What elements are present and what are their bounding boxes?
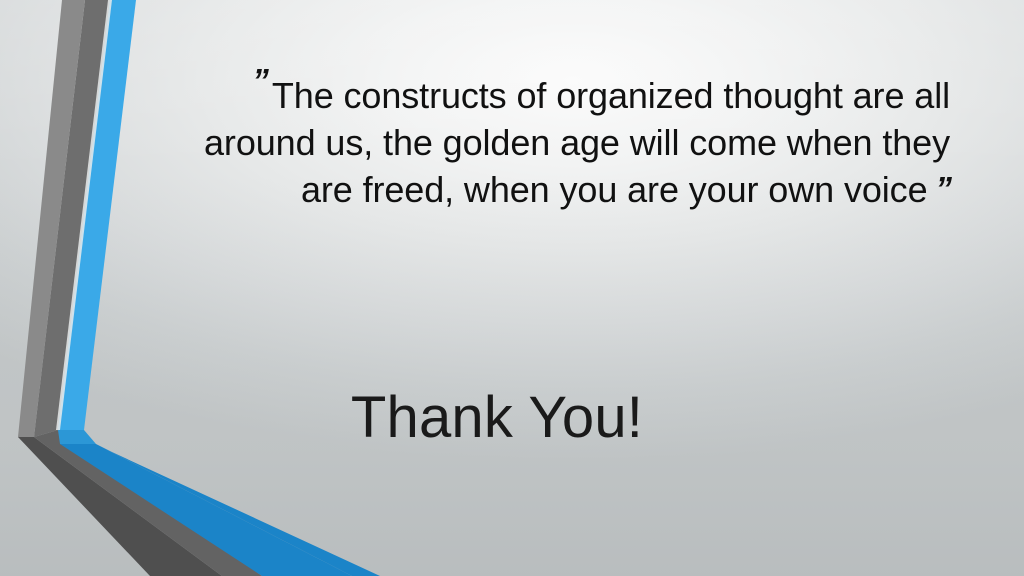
quote-body-text: The constructs of organized thought are … (204, 75, 950, 210)
close-quote-icon: ” (936, 170, 951, 207)
quote-text-block: ”The constructs of organized thought are… (150, 72, 950, 213)
closing-message-text: Thank You! (351, 385, 643, 451)
presentation-slide: ”The constructs of organized thought are… (0, 0, 1024, 576)
closing-message: Thank You! (0, 385, 1024, 451)
open-quote-icon: ” (252, 62, 267, 99)
